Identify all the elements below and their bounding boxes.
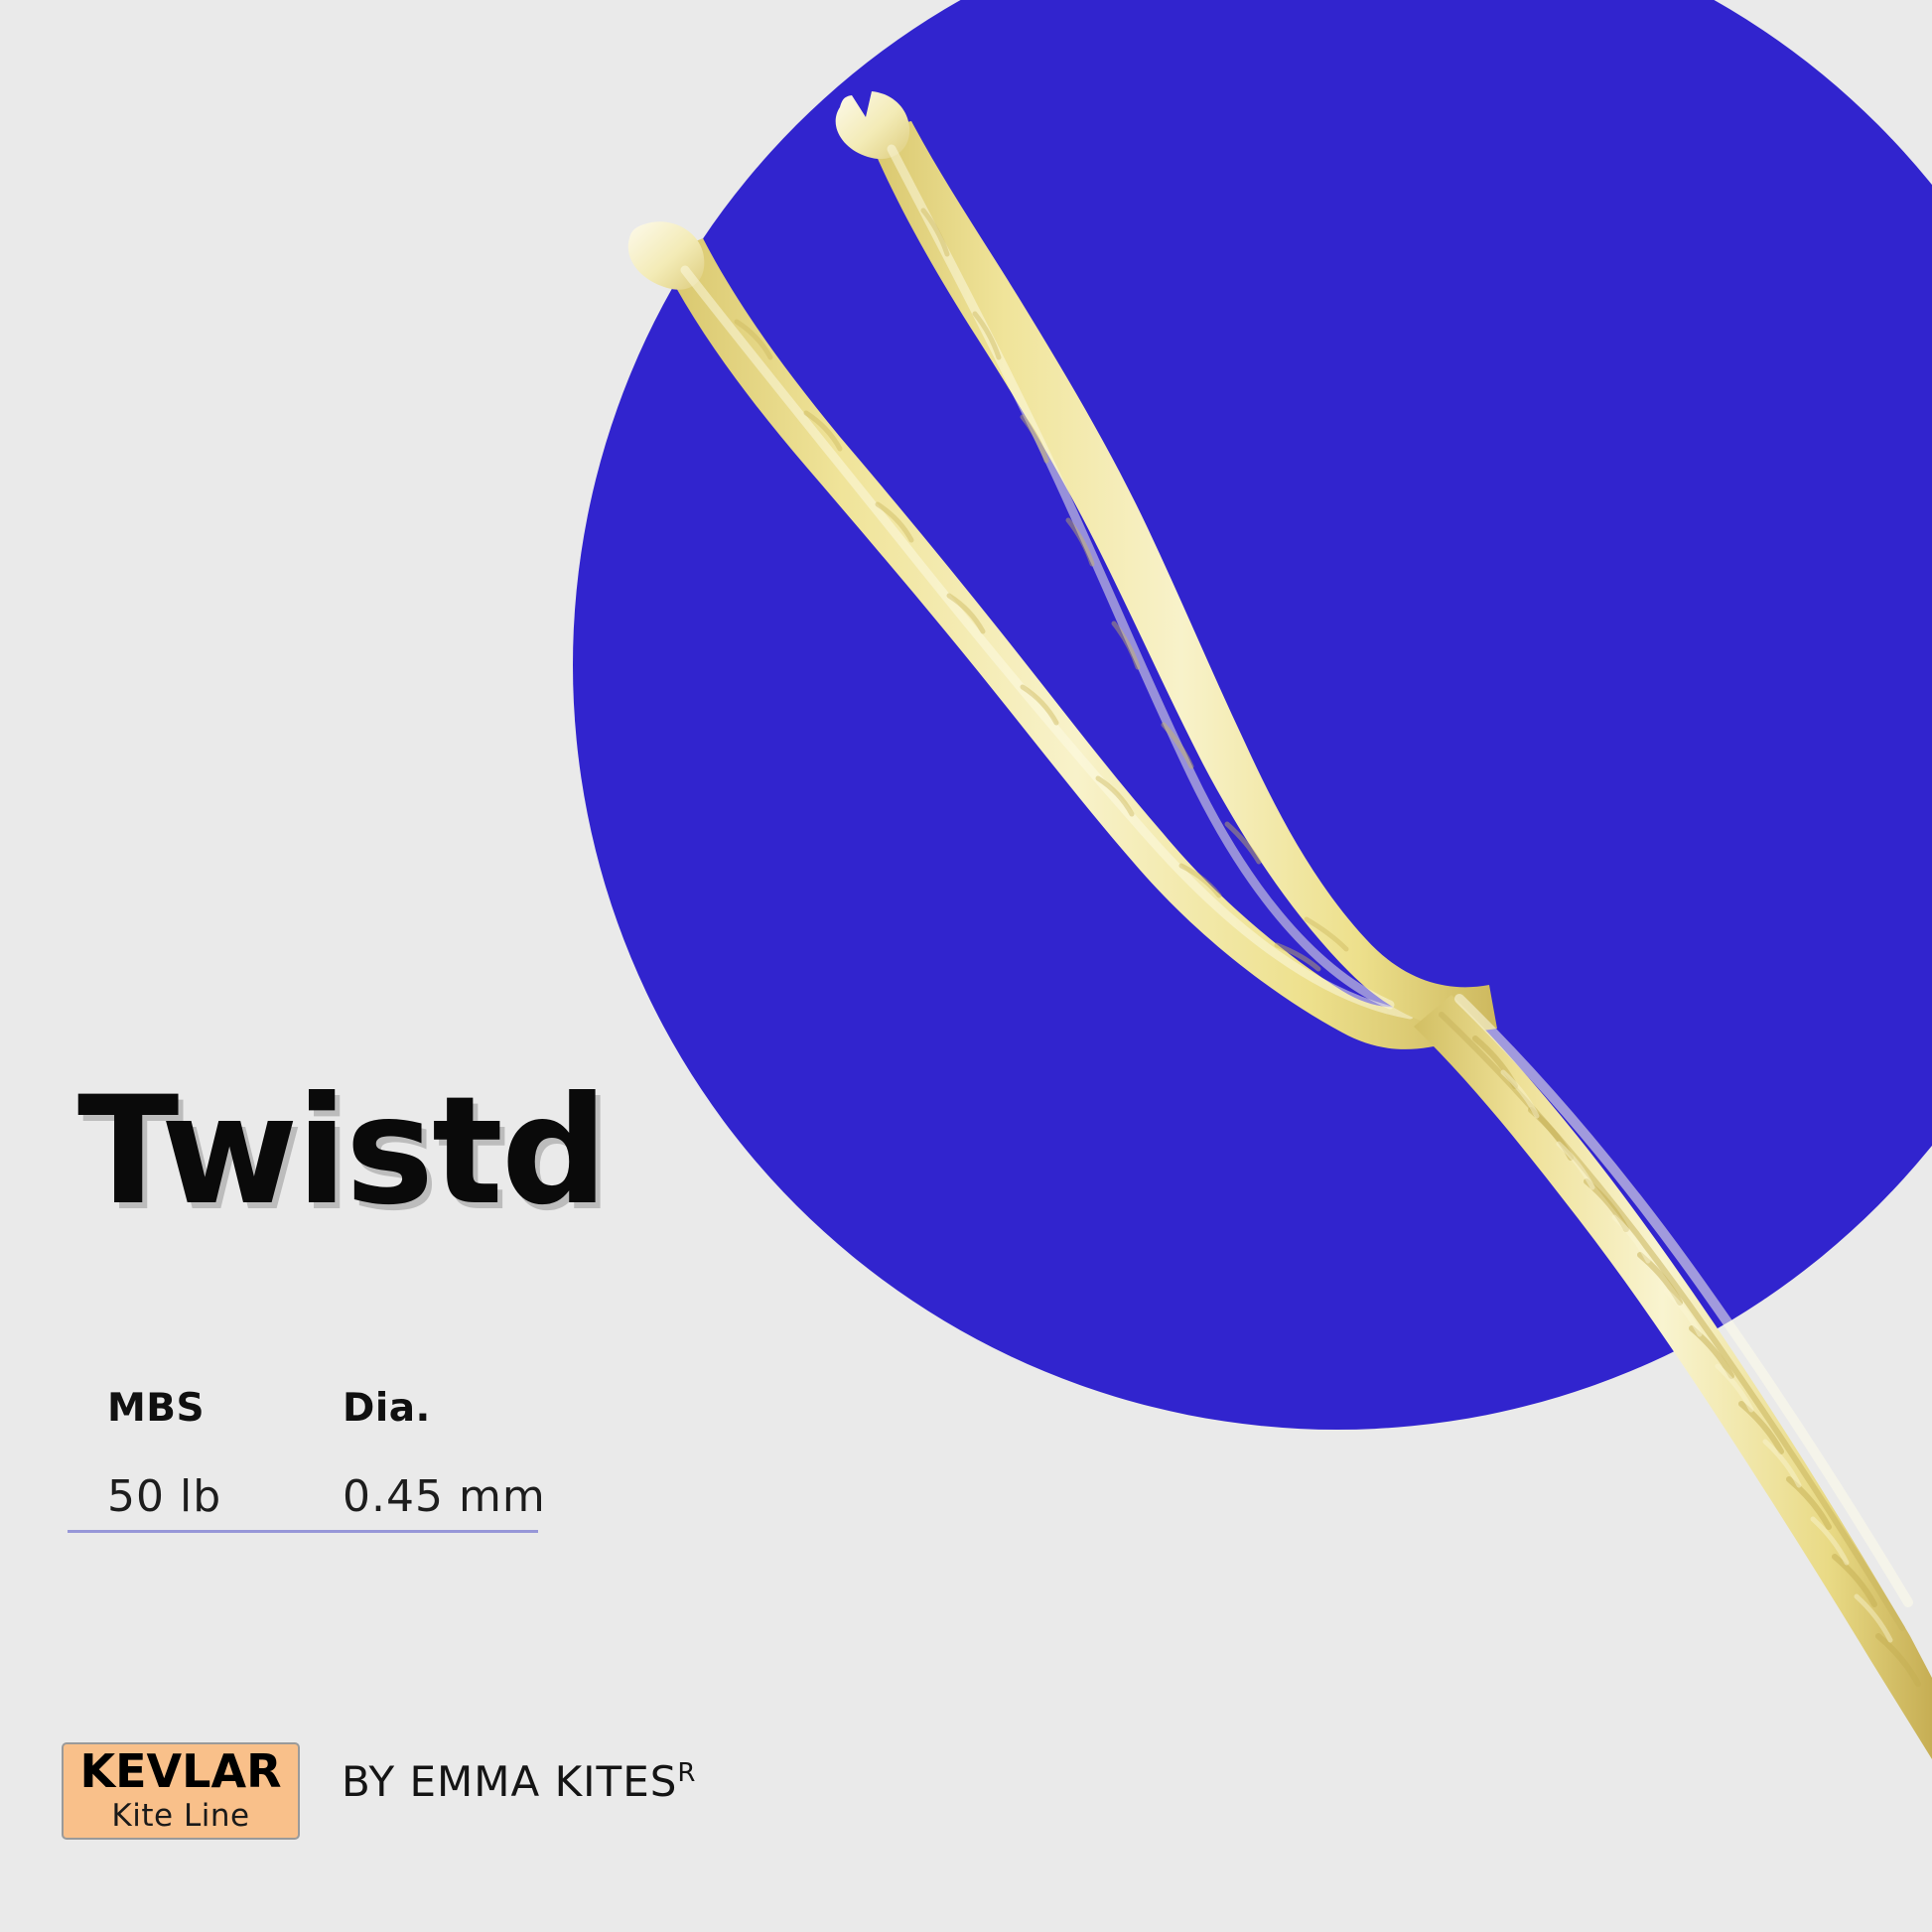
page-title: Twistd — [77, 1077, 606, 1226]
spec-value-row: 50 lb 0.45 mm — [68, 1471, 538, 1524]
product-card: Twistd MBS Dia. 50 lb 0.45 mm KEVLAR Kit… — [0, 0, 1932, 1932]
brand-name: BY EMMA KITESR — [342, 1757, 695, 1806]
kevlar-badge-title: KEVLAR — [79, 1748, 281, 1794]
spec-value-mbs: 50 lb — [68, 1471, 303, 1524]
spec-header-dia: Dia. — [303, 1385, 538, 1434]
spec-header-row: MBS Dia. — [68, 1385, 538, 1434]
registered-trademark-icon: R — [677, 1758, 695, 1788]
spec-header-mbs: MBS — [68, 1385, 303, 1434]
blue-circle-backdrop — [573, 0, 1932, 1430]
brand-name-text: BY EMMA KITES — [342, 1757, 677, 1806]
spec-underline-rule — [68, 1530, 538, 1533]
kevlar-badge-subtitle: Kite Line — [111, 1797, 249, 1836]
spec-value-dia: 0.45 mm — [303, 1471, 538, 1524]
footer: KEVLAR Kite Line BY EMMA KITESR — [62, 1742, 695, 1840]
spec-table: MBS Dia. 50 lb 0.45 mm — [68, 1385, 538, 1533]
kevlar-badge: KEVLAR Kite Line — [62, 1742, 300, 1840]
title-block: Twistd — [77, 1077, 606, 1226]
